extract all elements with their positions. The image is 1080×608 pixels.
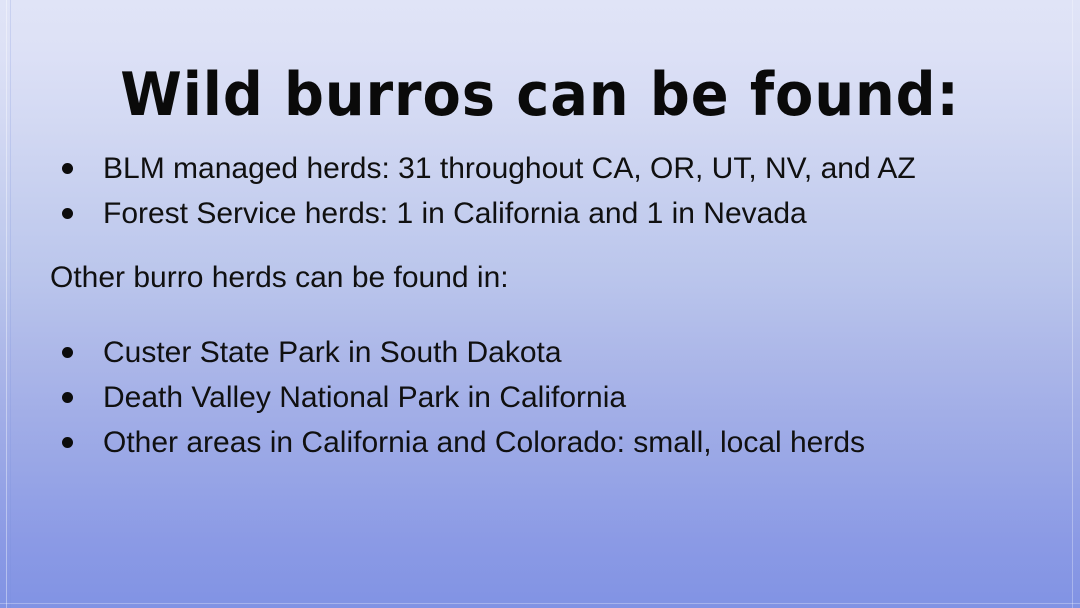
list-item: Other areas in California and Colorado: … [50,420,1040,465]
list-item: Death Valley National Park in California [50,375,1040,420]
bullet-dot-icon [62,392,73,403]
bottom-edge-line [0,603,1080,604]
list-item-label: Custer State Park in South Dakota [103,336,562,369]
list-item-label: Forest Service herds: 1 in California an… [103,197,807,230]
bullet-dot-icon [62,208,73,219]
list-item-label: Other areas in California and Colorado: … [103,426,865,459]
list-item-label: Death Valley National Park in California [103,381,626,414]
bullet-dot-icon [62,347,73,358]
list-item: Custer State Park in South Dakota [50,330,1040,375]
left-edge-seam-line [6,0,7,608]
left-inner-seam-line [10,0,11,608]
list-item: BLM managed herds: 31 throughout CA, OR,… [50,146,1040,191]
list-item: Forest Service herds: 1 in California an… [50,191,1040,236]
bullet-dot-icon [62,163,73,174]
slide-body: BLM managed herds: 31 throughout CA, OR,… [50,146,1040,465]
presentation-slide: Wild burros can be found: BLM managed he… [0,0,1080,608]
bullet-list-managed-herds: BLM managed herds: 31 throughout CA, OR,… [50,146,1040,236]
bullet-dot-icon [62,437,73,448]
list-item-label: BLM managed herds: 31 throughout CA, OR,… [103,152,916,185]
section-lead-in-text: Other burro herds can be found in: [50,255,1040,300]
bullet-list-other-herds: Custer State Park in South Dakota Death … [50,330,1040,465]
right-edge-seam-line [1072,0,1073,608]
slide-title: Wild burros can be found: [38,64,1042,127]
